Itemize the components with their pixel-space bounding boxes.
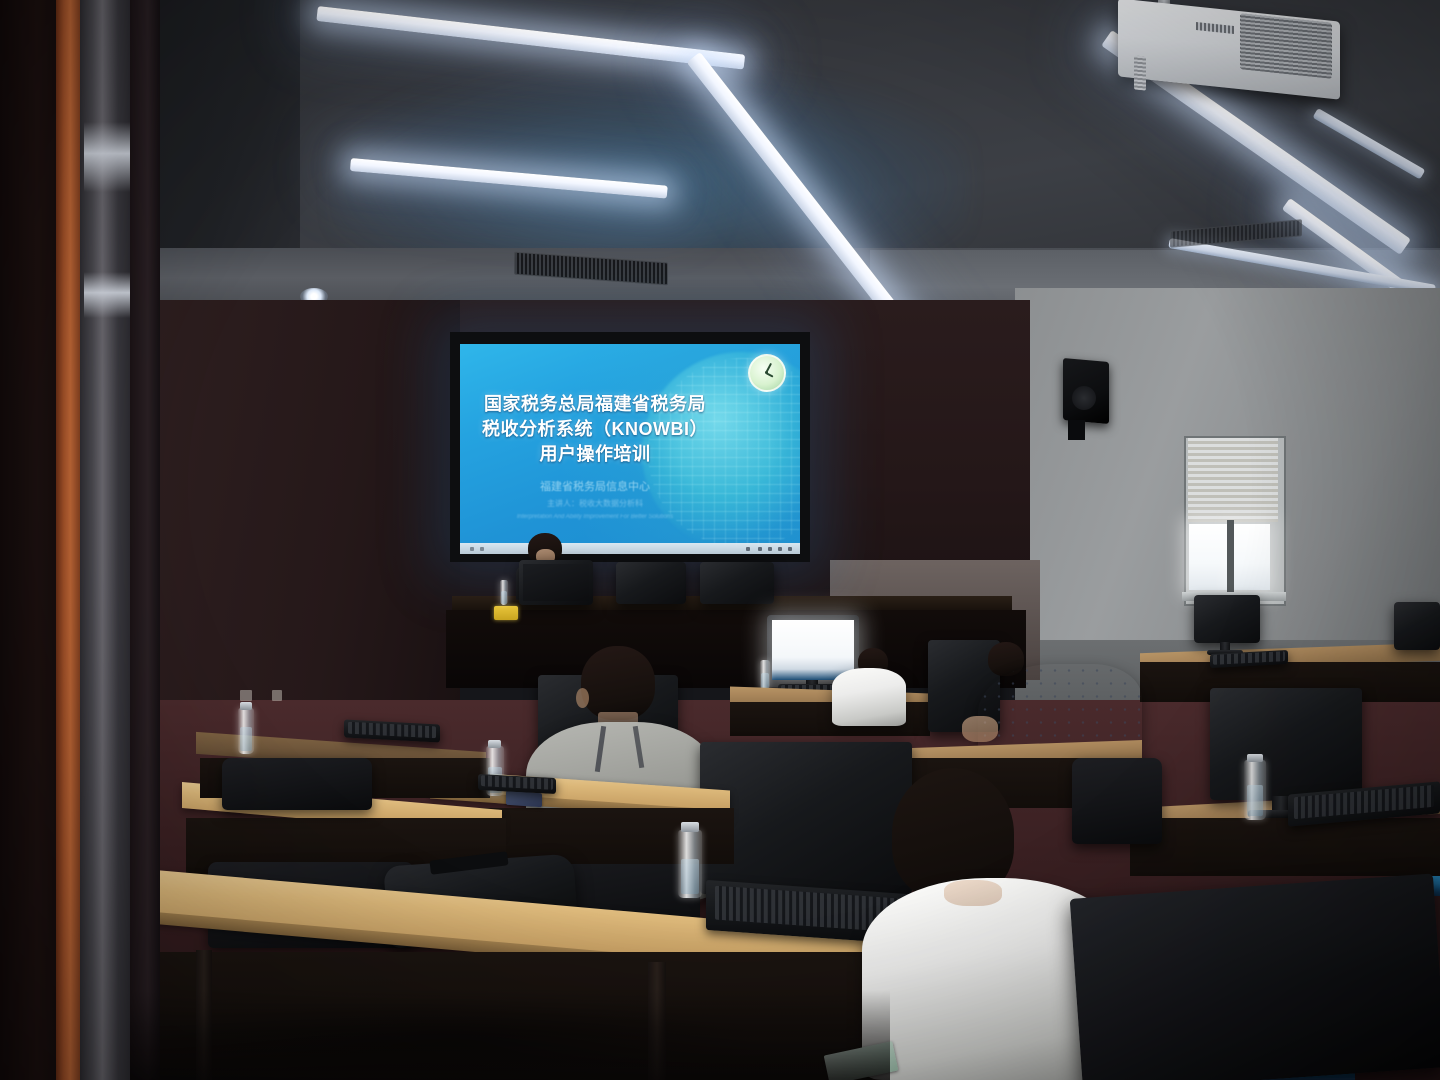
window-pane-right [1234, 524, 1270, 590]
laptop-foreground [1070, 874, 1440, 1080]
pillar-highlight [84, 122, 132, 192]
left-pillar-wood-trim [56, 0, 82, 1080]
water-bottle [500, 580, 508, 605]
left-pillar-edge [130, 0, 160, 1080]
bottle-cap [488, 740, 501, 748]
slide-subtitle-3: Interpretation And Ability Improvement F… [464, 514, 726, 520]
slide-title-line1: 国家税务总局福建省税务局 [470, 394, 720, 415]
window-mullion [1227, 520, 1234, 594]
desk-front-panel [1130, 818, 1440, 876]
slide-taskbar [460, 543, 800, 554]
monitor-back-right-1 [1194, 595, 1260, 643]
monitor-screen-document [772, 620, 854, 680]
monitor-right-mid [1210, 688, 1362, 800]
speaker-cone-icon [1072, 386, 1096, 410]
bottle-cap [681, 822, 699, 832]
bottle-cap [1247, 754, 1263, 762]
water-bottle [238, 708, 254, 754]
left-dark-wall [160, 300, 460, 720]
monitor-back-right-2 [1394, 602, 1440, 650]
water-bottle [760, 660, 770, 690]
projector-vent-grille [1240, 13, 1332, 79]
attendee-arm [962, 716, 998, 742]
slide-subtitle-1: 福建省税务局信息中心 [470, 478, 720, 494]
attendee-neck [944, 880, 1002, 906]
attendee-ear [576, 688, 589, 708]
yellow-desk-sign [494, 606, 518, 620]
wall-outlet[interactable] [272, 690, 282, 701]
mobile-phone[interactable] [506, 791, 542, 808]
chair[interactable] [222, 758, 372, 810]
presenter-monitor-2 [616, 562, 686, 604]
window-pane-left [1189, 524, 1227, 590]
bottle-cap [240, 702, 252, 710]
attendee-head-grey-polo [581, 646, 655, 720]
projection-screen: 国家税务总局福建省税务局 税收分析系统（KNOWBI） 用户操作培训 福建省税务… [460, 344, 800, 554]
slide-title-line3: 用户操作培训 [470, 444, 720, 465]
slide-subtitle-2: 主讲人：税收大数据分析科 [470, 498, 720, 509]
foreground-shadow [130, 990, 890, 1080]
water-bottle [678, 830, 702, 898]
pillar-highlight [84, 272, 132, 318]
projector-side-vent [1134, 55, 1146, 90]
presenter-monitor-screen [523, 564, 589, 601]
slide-title-line2: 税收分析系统（KNOWBI） [470, 419, 720, 440]
presenter-monitor-3 [700, 562, 774, 604]
classroom-photo-scene: 国家税务总局福建省税务局 税收分析系统（KNOWBI） 用户操作培训 福建省税务… [0, 0, 1440, 1080]
left-pillar-dark [0, 0, 62, 1080]
water-bottle [1244, 760, 1266, 820]
window-roller-blind[interactable] [1188, 438, 1278, 522]
wall-outlet[interactable] [240, 690, 252, 701]
chair[interactable] [1072, 758, 1162, 844]
attendee-torso-white [832, 668, 906, 726]
speaker-bracket [1068, 420, 1085, 440]
clock-icon [748, 354, 786, 392]
